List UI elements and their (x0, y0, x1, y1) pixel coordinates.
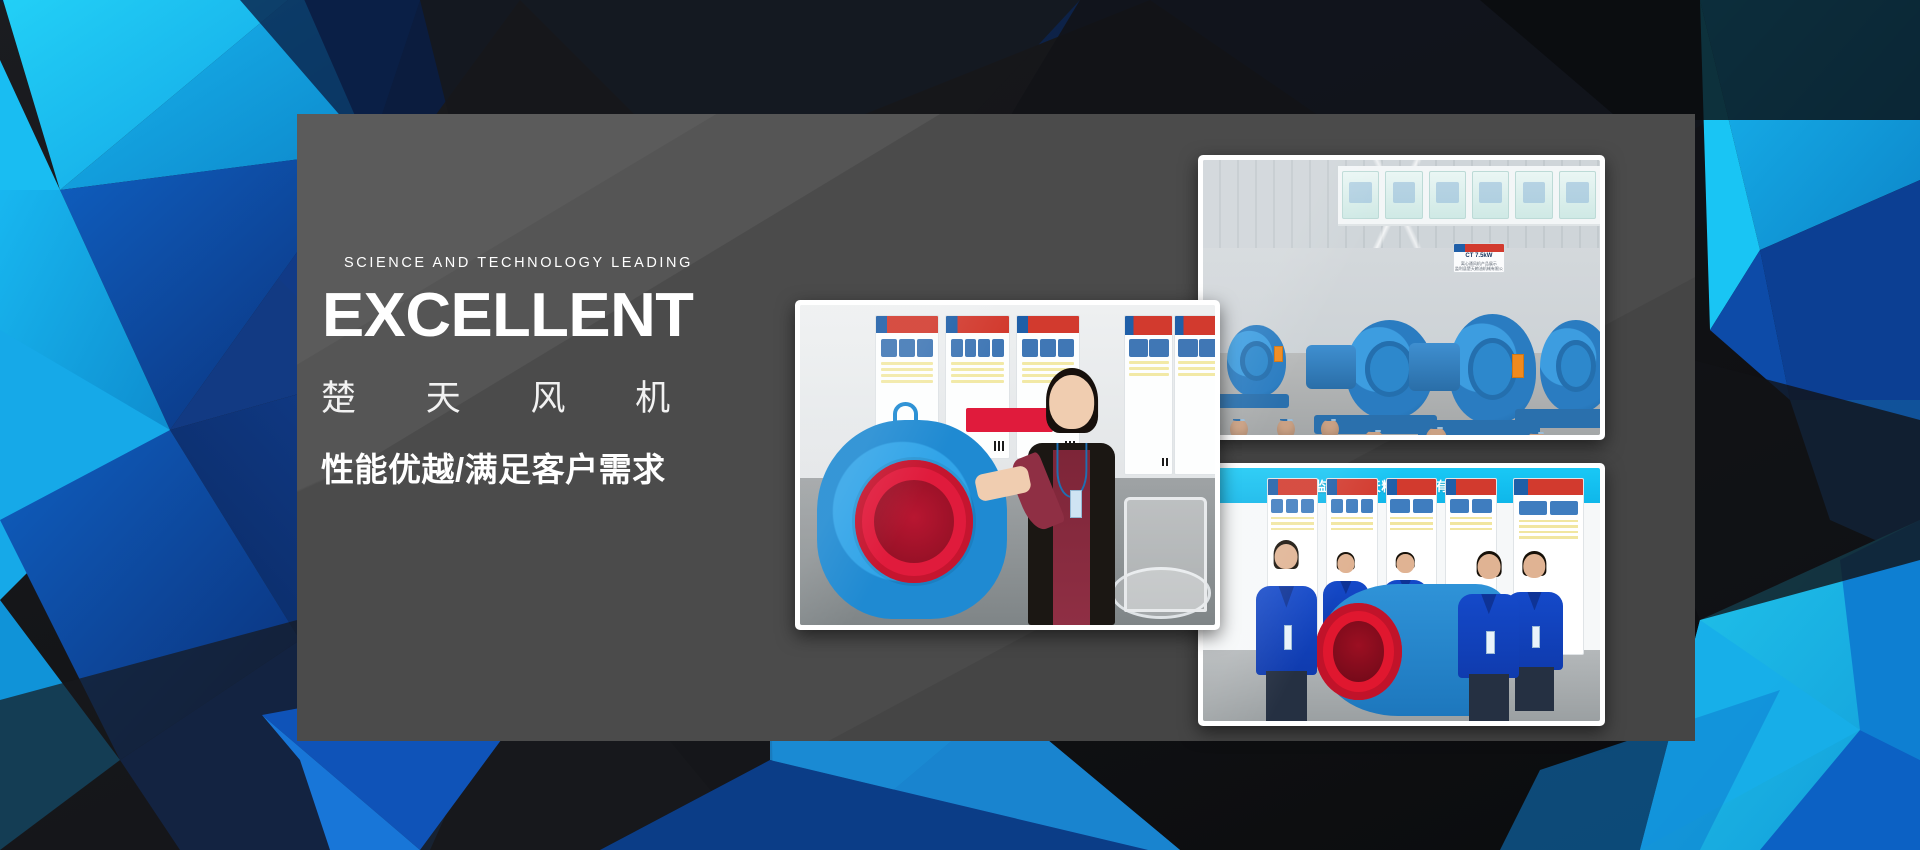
fan-unit-3 (1449, 314, 1536, 424)
fan-unit-1 (1227, 325, 1287, 397)
photo-team-suits: CT 7.5kW 离心通风机产品展示 监利县楚天粮油机械有限公司 (1203, 160, 1600, 435)
folding-chair (1124, 497, 1207, 612)
photo-card-team-suits: CT 7.5kW 离心通风机产品展示 监利县楚天粮油机械有限公司 (1198, 155, 1605, 440)
kicker-text: SCIENCE AND TECHNOLOGY LEADING (344, 255, 903, 271)
product-spec-sign: CT 7.5kW 离心通风机产品展示 监利县楚天粮油机械有限公司 (1453, 243, 1505, 273)
centrifugal-fan-blue-red (817, 420, 1008, 618)
hero-banner: SCIENCE AND TECHNOLOGY LEADING EXCELLENT… (0, 0, 1920, 850)
photo-card-team-blue: 监利县楚天粮油机械有限公司 3076 (1198, 463, 1605, 726)
photo-presenter (800, 305, 1215, 625)
person-blue-4 (1457, 554, 1521, 721)
photo-team-blue: 监利县楚天粮油机械有限公司 3076 (1203, 468, 1600, 721)
booth-poster-4 (1124, 315, 1174, 475)
expo-overhead-posters (1338, 166, 1600, 227)
fan-unit-4 (1540, 320, 1600, 414)
booth-poster-5 (1174, 315, 1216, 475)
person-presenter (1020, 375, 1124, 625)
photo-card-presenter (795, 300, 1220, 630)
person-blue-1 (1255, 544, 1319, 721)
